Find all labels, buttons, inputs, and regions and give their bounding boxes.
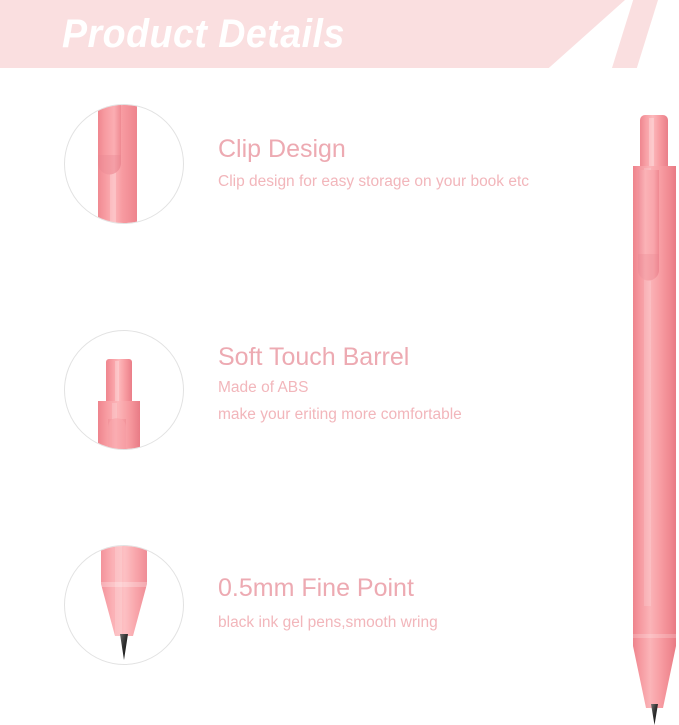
pen-clip-closeup-icon [65,105,183,223]
feature-row-clip-design: Clip Design Clip design for easy storage… [0,104,600,264]
feature-text-clip-design: Clip Design Clip design for easy storage… [218,134,529,193]
feature-description-line: Clip design for easy storage on your boo… [218,170,529,193]
feature-text-soft-touch-barrel: Soft Touch Barrel Made of ABS make your … [218,342,462,426]
feature-title: Clip Design [218,134,529,164]
page-title: Product Details [62,8,345,60]
thumbnail-circle-clip-design [64,104,184,224]
feature-title: 0.5mm Fine Point [218,573,438,603]
page-header: Product Details [0,0,679,68]
pen-plunger-closeup-icon [65,331,183,449]
header-diagonal-stripe [612,0,658,68]
feature-title: Soft Touch Barrel [218,342,462,372]
feature-description-line: Made of ABS [218,376,462,399]
feature-row-fine-point: 0.5mm Fine Point black ink gel pens,smoo… [0,545,600,705]
pink-gel-pen-icon [612,104,679,725]
thumbnail-circle-soft-touch-barrel [64,330,184,450]
thumbnail-circle-fine-point [64,545,184,665]
feature-description-line: black ink gel pens,smooth wring [218,611,438,634]
feature-row-soft-touch-barrel: Soft Touch Barrel Made of ABS make your … [0,330,600,490]
feature-description-line: make your eriting more comfortable [218,403,462,426]
feature-text-fine-point: 0.5mm Fine Point black ink gel pens,smoo… [218,573,438,634]
pen-tip-closeup-icon [65,546,183,664]
